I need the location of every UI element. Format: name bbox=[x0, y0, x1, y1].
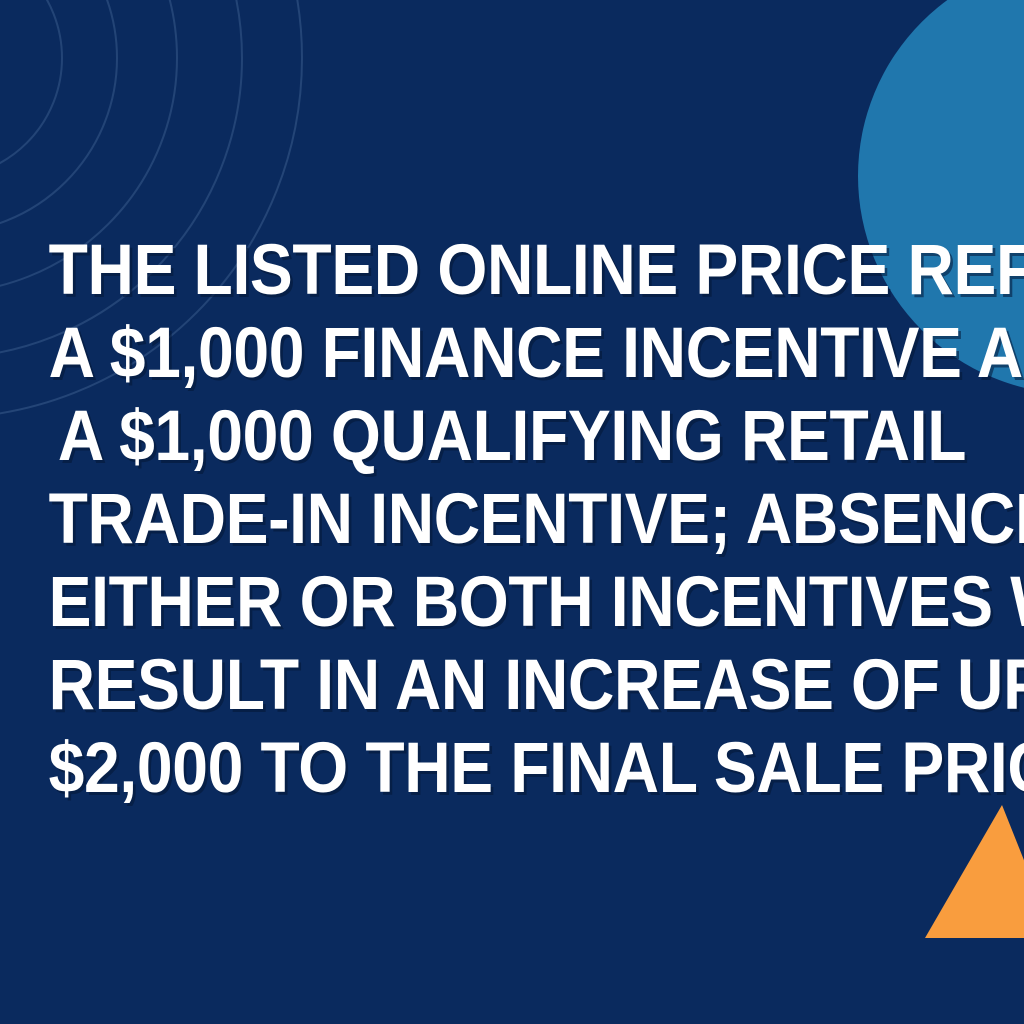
promotional-disclaimer-graphic: THE LISTED ONLINE PRICE REFLECTS A $1,00… bbox=[0, 0, 1024, 1024]
background-decoration-layer bbox=[0, 0, 1024, 1024]
